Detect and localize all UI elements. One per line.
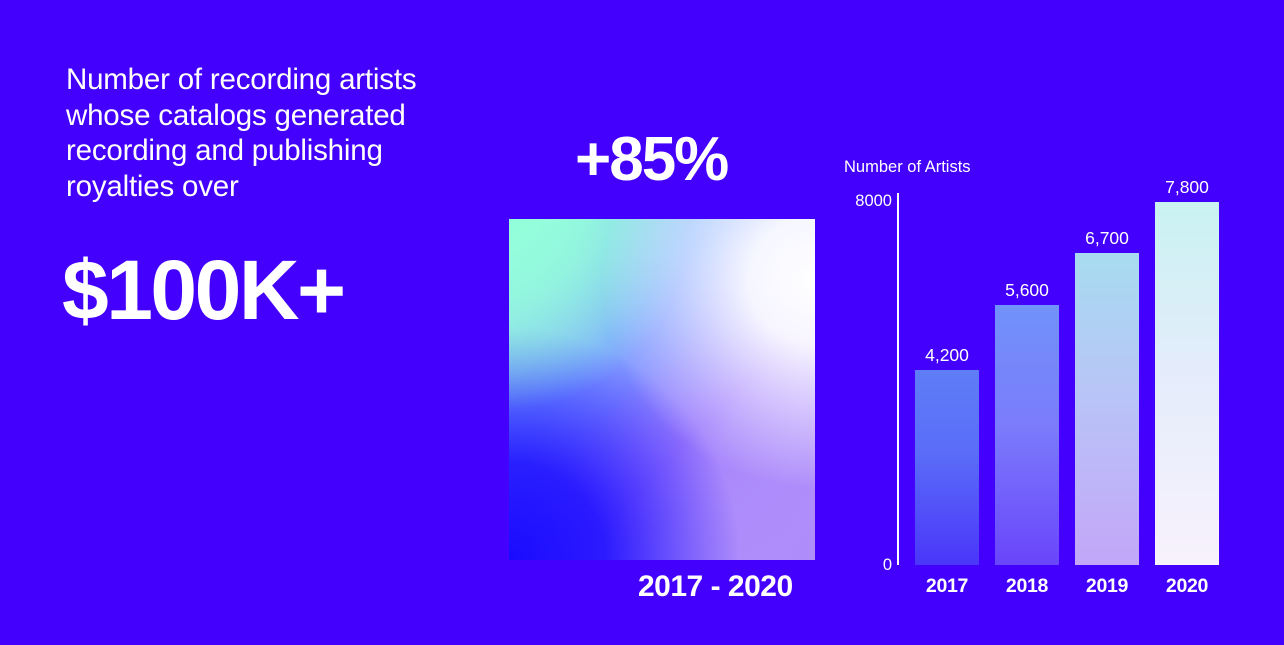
plot-area: 4,200 5,600 6,700 7,800: [902, 193, 1236, 565]
bar-group-2020: 7,800: [1155, 193, 1219, 565]
date-range-caption: 2017 - 2020: [638, 570, 793, 604]
infographic-canvas: Number of recording artists whose catalo…: [0, 0, 1284, 645]
x-axis-label-2019: 2019: [1075, 574, 1139, 598]
bar-2019: 6,700: [1075, 253, 1139, 565]
y-axis-tick-min: 0: [840, 555, 892, 575]
bar-2017: 4,200: [915, 370, 979, 565]
bar-group-2017: 4,200: [915, 193, 979, 565]
x-axis-label-2020: 2020: [1155, 574, 1219, 598]
x-axis-labels: 2017 2018 2019 2020: [902, 574, 1236, 604]
gradient-swatch: [509, 219, 815, 560]
key-metric-value: $100K+: [62, 246, 344, 334]
bar-2020: 7,800: [1155, 202, 1219, 565]
y-axis-line: [897, 193, 899, 565]
bar-2018: 5,600: [995, 305, 1059, 565]
x-axis-label-2017: 2017: [915, 574, 979, 598]
y-axis-title: Number of Artists: [844, 157, 971, 177]
bar-chart: Number of Artists 8000 0 4,200 5,600 6,7…: [840, 150, 1240, 620]
bar-value-label: 4,200: [897, 345, 997, 366]
bar-group-2018: 5,600: [995, 193, 1059, 565]
bar-group-2019: 6,700: [1075, 193, 1139, 565]
x-axis-label-2018: 2018: [995, 574, 1059, 598]
bar-value-label: 6,700: [1057, 228, 1157, 249]
bar-value-label: 7,800: [1137, 177, 1237, 198]
headline-text: Number of recording artists whose catalo…: [66, 62, 446, 204]
bar-value-label: 5,600: [977, 280, 1077, 301]
y-axis-tick-max: 8000: [840, 191, 892, 211]
percent-change-callout: +85%: [575, 126, 727, 194]
